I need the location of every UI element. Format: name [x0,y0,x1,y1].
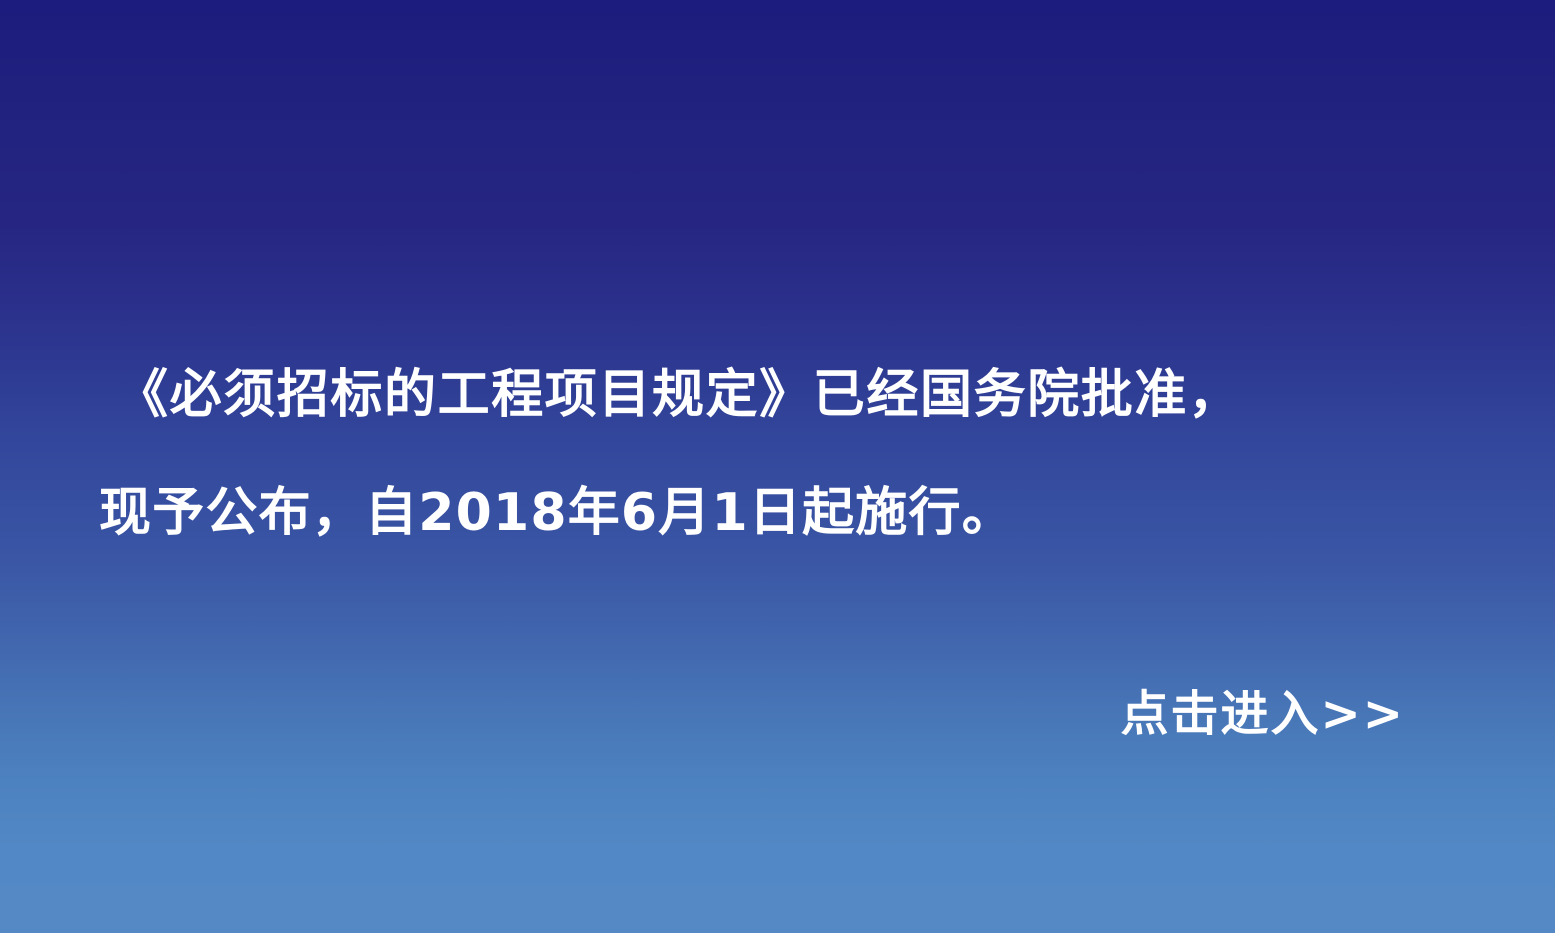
notice-banner: 《必须招标的工程项目规定》已经国务院批准， 现予公布，自2018年6月1日起施行… [0,0,1555,933]
notice-line-2: 现予公布，自2018年6月1日起施行。 [95,454,1465,572]
notice-line-1: 《必须招标的工程项目规定》已经国务院批准， [95,336,1465,454]
cta-row: 点击进入>> [0,684,1405,744]
notice-text-block: 《必须招标的工程项目规定》已经国务院批准， 现予公布，自2018年6月1日起施行… [95,336,1465,572]
enter-link[interactable]: 点击进入>> [1121,684,1405,744]
